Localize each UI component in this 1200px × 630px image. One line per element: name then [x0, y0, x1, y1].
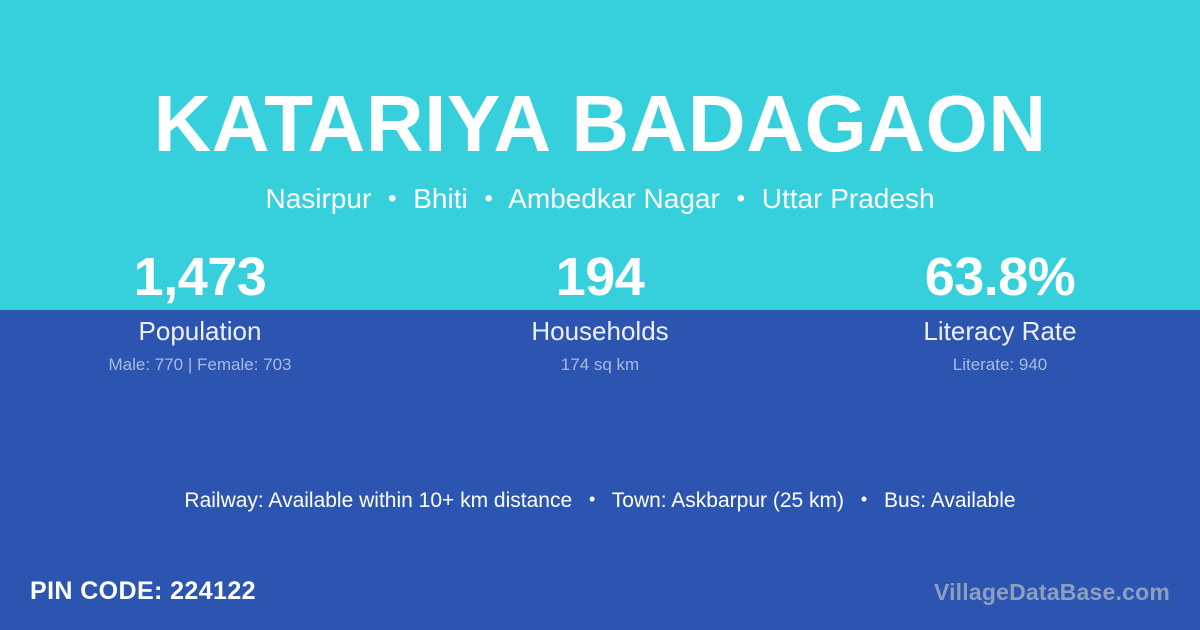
- breadcrumb-item-panchayat: Nasirpur: [265, 183, 371, 214]
- breadcrumb-separator: •: [379, 185, 405, 212]
- connectivity-info: Railway: Available within 10+ km distanc…: [0, 487, 1200, 515]
- breadcrumb-item-state: Uttar Pradesh: [762, 183, 935, 214]
- connectivity-town: Town: Askbarpur (25 km): [612, 489, 844, 512]
- stat-label: Population: [0, 316, 400, 346]
- breadcrumb-separator: •: [476, 185, 502, 212]
- stat-detail: 174 sq km: [400, 354, 800, 375]
- connectivity-separator: •: [850, 489, 878, 509]
- stat-households: 194 Households 174 sq km: [400, 248, 800, 375]
- stat-detail: Male: 770 | Female: 703: [0, 354, 400, 375]
- breadcrumb-separator: •: [728, 185, 754, 212]
- stat-label: Literacy Rate: [800, 316, 1200, 346]
- connectivity-separator: •: [578, 489, 606, 509]
- stat-value: 194: [400, 248, 800, 306]
- breadcrumb-item-block: Bhiti: [413, 183, 467, 214]
- page-title: KATARIYA BADAGAON: [0, 82, 1200, 166]
- stat-value: 1,473: [0, 248, 400, 306]
- stat-literacy-rate: 63.8% Literacy Rate Literate: 940: [800, 248, 1200, 375]
- stat-detail: Literate: 940: [800, 354, 1200, 375]
- breadcrumb-item-district: Ambedkar Nagar: [508, 183, 720, 214]
- breadcrumb: Nasirpur • Bhiti • Ambedkar Nagar • Utta…: [0, 182, 1200, 218]
- stat-value: 63.8%: [800, 248, 1200, 306]
- card-footer: PIN CODE: 224122 VillageDataBase.com: [0, 572, 1200, 630]
- connectivity-railway: Railway: Available within 10+ km distanc…: [184, 489, 572, 512]
- pin-code: PIN CODE: 224122: [30, 576, 256, 606]
- stat-population: 1,473 Population Male: 770 | Female: 703: [0, 248, 400, 375]
- connectivity-bus: Bus: Available: [884, 489, 1016, 512]
- village-info-card: KATARIYA BADAGAON Nasirpur • Bhiti • Amb…: [0, 0, 1200, 630]
- stat-label: Households: [400, 316, 800, 346]
- stats-row: 1,473 Population Male: 770 | Female: 703…: [0, 248, 1200, 375]
- site-branding: VillageDataBase.com: [934, 578, 1170, 606]
